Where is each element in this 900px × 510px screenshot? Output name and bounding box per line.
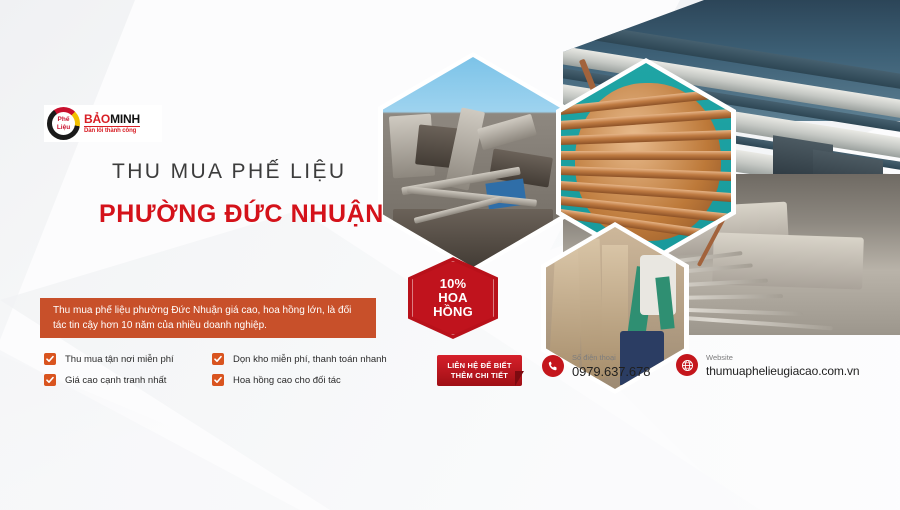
badge-line-2: HOA [438,291,468,305]
phone-icon [542,355,564,377]
phone-contact[interactable]: Số điện thoại 0979.637.678 [542,354,650,378]
check-icon [212,374,224,386]
phone-caption: Số điện thoại [572,354,650,362]
badge-line-3: HỒNG [433,305,473,319]
banner-canvas: 10% HOA HỒNG Phế Liệu BẢOMINH Dẫn lối th… [0,0,900,510]
feature-item: Giá cao cạnh tranh nhất [44,374,212,386]
cta-line-1: LIÊN HỆ ĐỂ BIẾT [447,361,511,370]
logo-emblem-icon: Phế Liệu [47,107,80,140]
feature-label: Dọn kho miễn phí, thanh toán nhanh [233,354,387,365]
feature-item: Dọn kho miễn phí, thanh toán nhanh [212,353,412,365]
feature-list: Thu mua tận nơi miễn phí Dọn kho miễn ph… [44,353,412,386]
feature-item: Thu mua tận nơi miễn phí [44,353,212,365]
phone-number: 0979.637.678 [572,365,650,378]
logo-secondary-text: MINH [110,112,140,126]
company-logo[interactable]: Phế Liệu BẢOMINH Dẫn lối thành công [44,105,162,142]
logo-tagline: Dẫn lối thành công [84,126,140,134]
website-url: thumuaphelieugiacao.com.vn [706,365,860,377]
logo-mark-line1: Phế [58,116,70,124]
page-subtitle: PHƯỜNG ĐỨC NHUẬN [99,200,384,229]
page-title: THU MUA PHẾ LIỆU [112,160,346,184]
badge-line-1: 10% [440,277,467,291]
cta-line-2: THÊM CHI TIẾT [451,371,508,380]
check-icon [44,374,56,386]
logo-primary-text: BẢO [84,112,110,126]
feature-label: Giá cao cạnh tranh nhất [65,375,166,386]
logo-mark-line2: Liệu [57,124,70,132]
website-contact[interactable]: Website thumuaphelieugiacao.com.vn [676,354,860,377]
contact-cta-button[interactable]: LIÊN HỆ ĐỂ BIẾT THÊM CHI TIẾT [437,355,522,386]
feature-label: Hoa hồng cao cho đối tác [233,375,341,386]
globe-icon [676,354,698,376]
check-icon [212,353,224,365]
website-caption: Website [706,354,860,362]
feature-item: Hoa hồng cao cho đối tác [212,374,412,386]
feature-label: Thu mua tận nơi miễn phí [65,354,174,365]
check-icon [44,353,56,365]
description-banner: Thu mua phế liệu phường Đức Nhuận giá ca… [40,298,376,338]
